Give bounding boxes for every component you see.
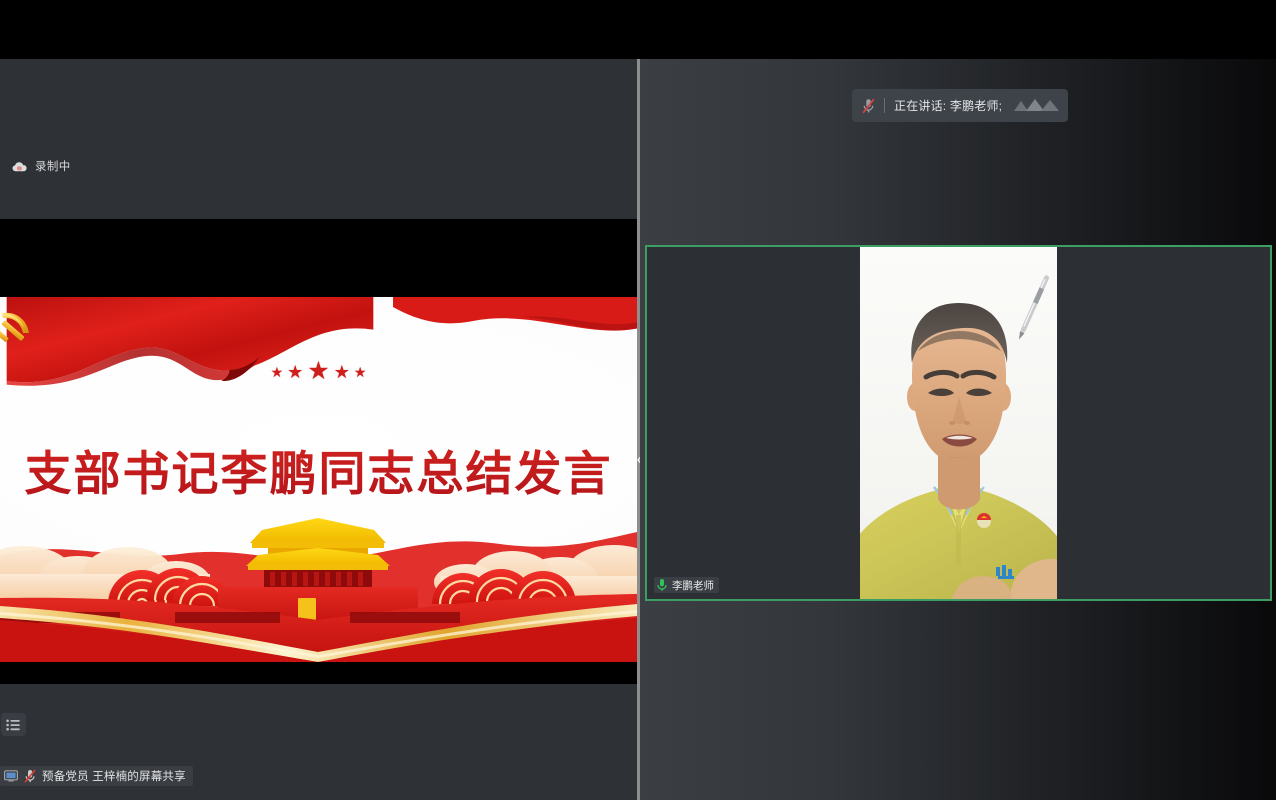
- mic-active-icon: [656, 578, 668, 592]
- pill-separator: [884, 98, 885, 113]
- slide-scenery: [0, 512, 637, 662]
- mic-muted-icon: [24, 769, 36, 783]
- audio-waves-icon: [1014, 97, 1060, 114]
- participant-name-label: 李鹏老师: [672, 578, 714, 593]
- active-speaker-label: 正在讲话: 李鹏老师;: [894, 97, 1002, 114]
- mic-muted-icon: [862, 98, 875, 114]
- screen-share-panel: 录制中: [0, 59, 637, 800]
- top-bar: [0, 0, 1276, 59]
- recording-indicator[interactable]: 录制中: [12, 157, 71, 175]
- screen-share-owner-label: 预备党员 王梓楠的屏幕共享: [42, 768, 186, 784]
- stars-decoration: ★★★★★: [0, 359, 637, 384]
- active-speaker-indicator[interactable]: 正在讲话: 李鹏老师;: [852, 89, 1068, 122]
- share-top-area: [0, 59, 637, 219]
- star-icon: ★: [354, 365, 367, 379]
- share-bottom-area: 预备党员 王梓楠的屏幕共享: [0, 684, 637, 800]
- flag-decoration: [0, 297, 390, 413]
- participant-video: [860, 247, 1057, 599]
- recording-label: 录制中: [35, 158, 71, 174]
- meeting-window: 录制中: [0, 0, 1276, 800]
- video-tile-li-peng[interactable]: 李鹏老师: [645, 245, 1272, 601]
- star-icon: ★: [334, 363, 350, 381]
- cloud-recording-icon: [12, 161, 28, 172]
- screen-share-icon: [4, 770, 18, 782]
- hammer-and-sickle-icon: [0, 303, 40, 347]
- participant-name-badge: 李鹏老师: [654, 577, 719, 593]
- shared-slide[interactable]: ★★★★★ 支部书记李鹏同志总结发言: [0, 297, 637, 662]
- slide-title: 支部书记李鹏同志总结发言: [0, 435, 637, 504]
- video-gallery: 正在讲话: 李鹏老师;: [640, 59, 1276, 800]
- star-icon: ★: [307, 359, 329, 384]
- screen-share-status-bar[interactable]: 预备党员 王梓楠的屏幕共享: [0, 766, 193, 786]
- star-icon: ★: [287, 363, 303, 381]
- list-icon: [6, 719, 21, 731]
- participants-list-button[interactable]: [1, 713, 26, 736]
- flag-decoration-right: [393, 297, 637, 345]
- star-icon: ★: [271, 365, 284, 379]
